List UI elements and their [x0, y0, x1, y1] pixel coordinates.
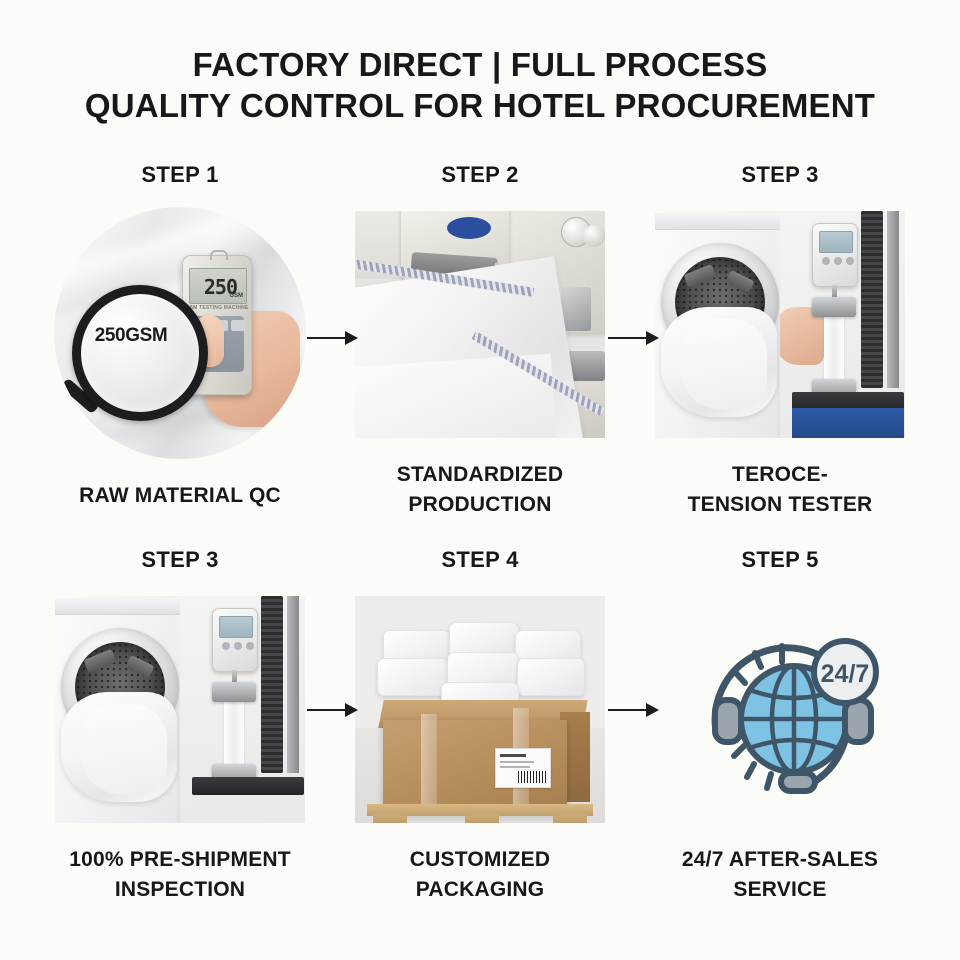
- meter-screen: 250 GSM: [189, 268, 247, 304]
- caption-line-2: PACKAGING: [335, 875, 625, 905]
- gauge-screen: [219, 616, 253, 638]
- arrow-right-icon-3: [307, 700, 359, 720]
- arrow-right-icon-4: [608, 700, 660, 720]
- washer-control-panel: [655, 213, 780, 230]
- step-caption-5: CUSTOMIZED PACKAGING: [335, 845, 625, 905]
- meter-clip: [210, 250, 228, 260]
- tester-cabinet: [792, 408, 904, 438]
- title-line-1: FACTORY DIRECT | FULL PROCESS: [0, 44, 960, 85]
- headset-earcup: [845, 700, 871, 742]
- caption-line-2: PRODUCTION: [335, 490, 625, 520]
- washer-tension-tester-illustration: [55, 596, 305, 823]
- fabric-guide: [561, 287, 591, 331]
- badge-24-7-text: 24/7: [821, 660, 870, 688]
- tension-tester-pane: [180, 596, 305, 823]
- raw-material-qc-illustration: 250 GSM GSM TESTING MACHINE 250GSM: [54, 207, 306, 459]
- carton-tape: [421, 714, 437, 814]
- gauge-button: [846, 257, 854, 265]
- washing-machine-pane: [655, 211, 780, 438]
- step-image-after-sales-service: 24/7: [655, 596, 905, 823]
- step-label-4: STEP 3: [141, 545, 218, 575]
- arrow-right-icon-1: [307, 328, 359, 348]
- digital-force-gauge: [212, 608, 258, 672]
- caption-line-1: 100% PRE-SHIPMENT: [30, 845, 330, 875]
- fabric-specimen: [224, 696, 244, 768]
- gauge-screen: [819, 231, 853, 253]
- arrow-shaft: [608, 337, 648, 339]
- step-image-pre-shipment-inspection: [55, 596, 305, 823]
- steps-row-bottom: STEP 3: [0, 545, 960, 905]
- page-title: FACTORY DIRECT | FULL PROCESS QUALITY CO…: [0, 44, 960, 126]
- caption-line-2: SERVICE: [630, 875, 930, 905]
- support-globe-illustration: 24/7: [655, 596, 905, 823]
- poly-bagged-linen: [377, 658, 449, 696]
- arrow-shaft: [608, 709, 648, 711]
- magnifier-gsm-text: 250GSM: [76, 325, 186, 347]
- pallet-block: [553, 814, 587, 823]
- arrow-head: [646, 703, 659, 717]
- shipping-label: [495, 748, 551, 788]
- arrow-right-icon-2: [608, 328, 660, 348]
- gauge-button: [834, 257, 842, 265]
- step-caption-4: 100% PRE-SHIPMENT INSPECTION: [30, 845, 330, 905]
- step-caption-3: TEROCE- TENSION TESTER: [635, 460, 925, 520]
- tester-clamp: [212, 682, 256, 702]
- barcode-icon: [518, 771, 546, 783]
- caption-line-1: 24/7 AFTER-SALES: [630, 845, 930, 875]
- arrow-head: [646, 331, 659, 345]
- tension-tester-pane: [780, 211, 905, 438]
- fabric-specimen: [824, 311, 844, 383]
- white-linen: [81, 704, 167, 794]
- tension-knob: [583, 225, 605, 247]
- white-linen: [681, 319, 767, 409]
- washer-tension-tester-illustration: [655, 211, 905, 438]
- caption-line-2: INSPECTION: [30, 875, 330, 905]
- step-card-4: STEP 3: [30, 545, 330, 905]
- pallet-block: [373, 814, 407, 823]
- step-caption-1: RAW MATERIAL QC: [35, 481, 325, 511]
- caption-line-1: RAW MATERIAL QC: [35, 481, 325, 511]
- step-card-3: STEP 3: [630, 160, 930, 520]
- gauge-button: [222, 642, 230, 650]
- gauge-button: [822, 257, 830, 265]
- pallet-block: [465, 814, 499, 823]
- headset-microphone: [781, 773, 815, 791]
- washing-machine-pane: [55, 596, 180, 823]
- caption-line-1: CUSTOMIZED: [335, 845, 625, 875]
- caption-line-1: STANDARDIZED: [335, 460, 625, 490]
- globe-headset-icon: 24/7: [655, 596, 905, 823]
- step-card-5: STEP 4: [330, 545, 630, 905]
- tester-base-plate: [192, 777, 304, 795]
- tester-column: [861, 211, 883, 388]
- caption-line-2: TENSION TESTER: [635, 490, 925, 520]
- label-line: [500, 754, 526, 757]
- step-image-raw-material-qc: 250 GSM GSM TESTING MACHINE 250GSM: [54, 207, 306, 459]
- label-line: [500, 761, 534, 763]
- step-image-standardized-production: [355, 211, 605, 438]
- arrow-shaft: [307, 709, 347, 711]
- arrow-head: [345, 703, 358, 717]
- step-card-1: STEP 1 250 GSM GSM TESTING MACHINE: [30, 160, 330, 520]
- step-label-2: STEP 2: [441, 160, 518, 190]
- tester-clamp: [812, 297, 856, 317]
- step-label-6: STEP 5: [741, 545, 818, 575]
- step-image-tension-tester: [655, 211, 905, 438]
- meter-unit: GSM: [229, 293, 243, 299]
- sewing-machine-illustration: [355, 211, 605, 438]
- headset-earcup: [715, 700, 741, 742]
- gauge-button: [234, 642, 242, 650]
- tester-column: [287, 596, 299, 773]
- steps-row-top: STEP 1 250 GSM GSM TESTING MACHINE: [0, 160, 960, 520]
- washer-control-panel: [55, 598, 180, 615]
- magnifier-icon: [72, 285, 208, 421]
- packaging-illustration: [355, 596, 605, 823]
- step-label-5: STEP 4: [441, 545, 518, 575]
- infographic-page: FACTORY DIRECT | FULL PROCESS QUALITY CO…: [0, 0, 960, 960]
- machine-brand-badge: [447, 217, 491, 239]
- step-card-2: STEP 2: [330, 160, 630, 520]
- title-line-2: QUALITY CONTROL FOR HOTEL PROCUREMENT: [0, 85, 960, 126]
- step-label-3: STEP 3: [741, 160, 818, 190]
- step-caption-6: 24/7 AFTER-SALES SERVICE: [630, 845, 930, 905]
- tester-column: [261, 596, 283, 773]
- gauge-button: [246, 642, 254, 650]
- tester-column: [887, 211, 899, 388]
- step-card-6: STEP 5: [630, 545, 930, 905]
- step-label-1: STEP 1: [141, 160, 218, 190]
- arrow-head: [345, 331, 358, 345]
- arrow-shaft: [307, 337, 347, 339]
- label-line: [500, 766, 530, 768]
- meter-button: [231, 320, 246, 331]
- caption-line-1: TEROCE-: [635, 460, 925, 490]
- step-image-customized-packaging: [355, 596, 605, 823]
- poly-bagged-linen: [517, 658, 585, 696]
- digital-force-gauge: [812, 223, 858, 287]
- step-caption-2: STANDARDIZED PRODUCTION: [335, 460, 625, 520]
